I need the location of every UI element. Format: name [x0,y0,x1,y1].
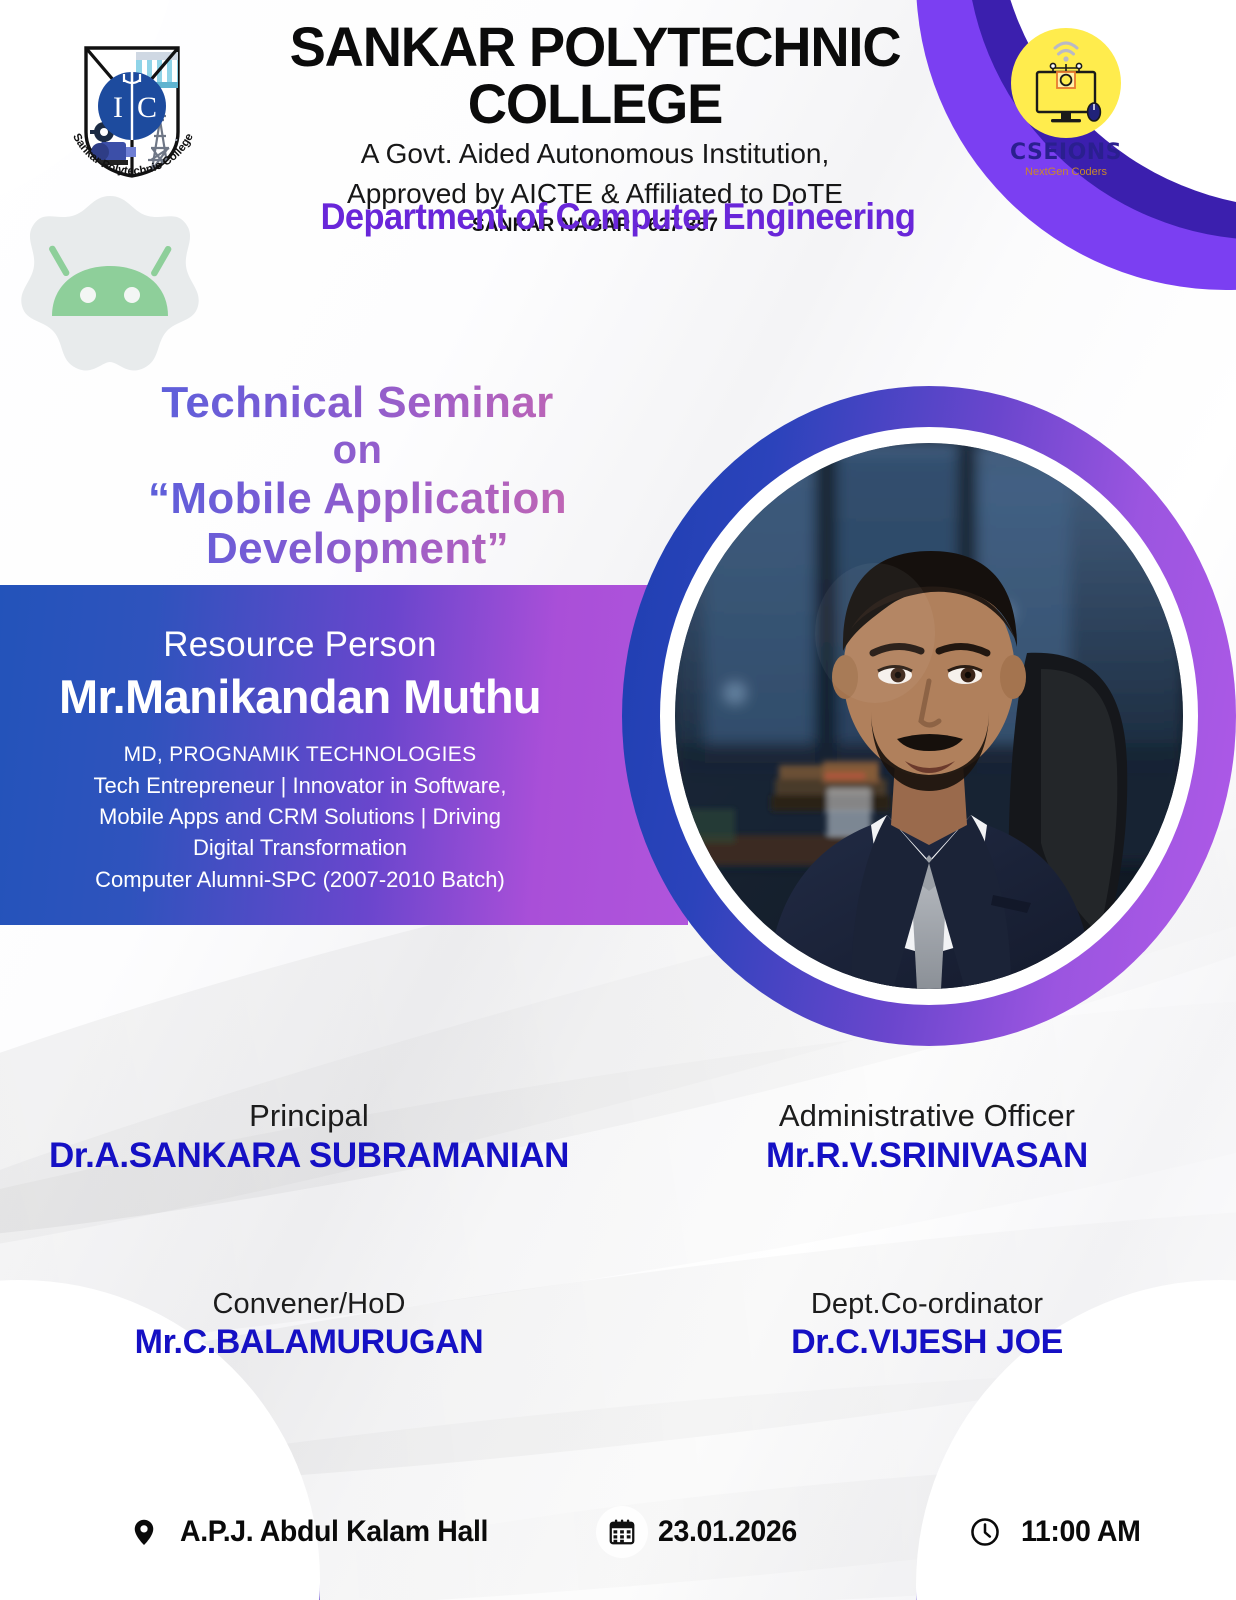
date-text: 23.01.2026 [658,1515,797,1549]
signatory-name: Dr.A.SANKARA SUBRAMANIAN [0,1136,618,1176]
resource-person-label: Resource Person [0,625,600,665]
resource-detail-line-2: Tech Entrepreneur | Innovator in Softwar… [0,770,600,801]
calendar-icon [596,1506,648,1558]
poster-footer: A.P.J. Abdul Kalam Hall [0,1492,1236,1572]
cseions-logo-icon [1011,28,1121,138]
signatory-administrative-officer: Administrative Officer Mr.R.V.SRINIVASAN [618,1098,1236,1176]
android-robot-icon [8,190,213,380]
seminar-line-1: Technical Seminar [55,378,660,428]
location-pin-icon [118,1506,170,1558]
svg-text:C: C [137,91,157,124]
resource-person-block: Resource Person Mr.Manikandan Muthu MD, … [0,585,600,895]
signatory-role: Dept.Co-ordinator [618,1288,1236,1321]
cseions-tagline: NextGen Coders [1002,166,1130,178]
cseions-name: CSEIONS [1002,140,1130,165]
signatory-name: Dr.C.VIJESH JOE [618,1323,1236,1362]
speaker-photo-frame [622,386,1236,1046]
college-name: SANKAR POLYTECHNIC COLLEGE [202,18,988,132]
signatory-name: Mr.C.BALAMURUGAN [0,1323,618,1362]
signatory-dept-coordinator: Dept.Co-ordinator Dr.C.VIJESH JOE [618,1288,1236,1362]
poster-header: I C Sankar Polytechnic College SANKAR PO… [0,10,1236,190]
signatory-convener-hod: Convener/HoD Mr.C.BALAMURUGAN [0,1288,618,1362]
speaker-photo [675,443,1183,989]
signatory-role: Administrative Officer [618,1098,1236,1134]
signatory-role: Principal [0,1098,618,1134]
signatory-row: Convener/HoD Mr.C.BALAMURUGAN Dept.Co-or… [0,1288,1236,1362]
seminar-line-4: Development” [55,524,660,574]
footer-date: 23.01.2026 [596,1506,804,1558]
resource-detail-line-5: Computer Alumni-SPC (2007-2010 Batch) [0,864,600,895]
seminar-line-3: “Mobile Application [55,474,660,524]
resource-person-details: MD, PROGNAMIK TECHNOLOGIES Tech Entrepre… [0,740,600,895]
cseions-logo: CSEIONS NextGen Coders [1002,28,1130,180]
resource-detail-line-3: Mobile Apps and CRM Solutions | Driving [0,801,600,832]
department-title: Department of Computer Engineering [43,196,1192,238]
venue-text: A.P.J. Abdul Kalam Hall [180,1515,488,1549]
footer-venue: A.P.J. Abdul Kalam Hall [118,1506,504,1558]
svg-text:I: I [113,91,123,124]
resource-detail-line-1: MD, PROGNAMIK TECHNOLOGIES [0,740,600,770]
resource-detail-line-4: Digital Transformation [0,832,600,863]
footer-time: 11:00 AM [959,1506,1147,1558]
signatories-section: Principal Dr.A.SANKARA SUBRAMANIAN Admin… [0,1098,1236,1362]
signatory-role: Convener/HoD [0,1288,618,1321]
college-subtitle-line1: A Govt. Aided Autonomous Institution, [190,136,1000,172]
seminar-line-2: on [55,428,660,474]
clock-icon [959,1506,1011,1558]
signatory-name: Mr.R.V.SRINIVASAN [618,1136,1236,1176]
seminar-title: Technical Seminar on “Mobile Application… [55,378,660,574]
event-poster: I C Sankar Polytechnic College SANKAR PO… [0,0,1236,1600]
signatory-principal: Principal Dr.A.SANKARA SUBRAMANIAN [0,1098,618,1176]
resource-person-banner: Resource Person Mr.Manikandan Muthu MD, … [0,585,688,925]
signatory-row: Principal Dr.A.SANKARA SUBRAMANIAN Admin… [0,1098,1236,1176]
resource-person-name: Mr.Manikandan Muthu [0,669,600,724]
time-text: 11:00 AM [1021,1515,1140,1549]
